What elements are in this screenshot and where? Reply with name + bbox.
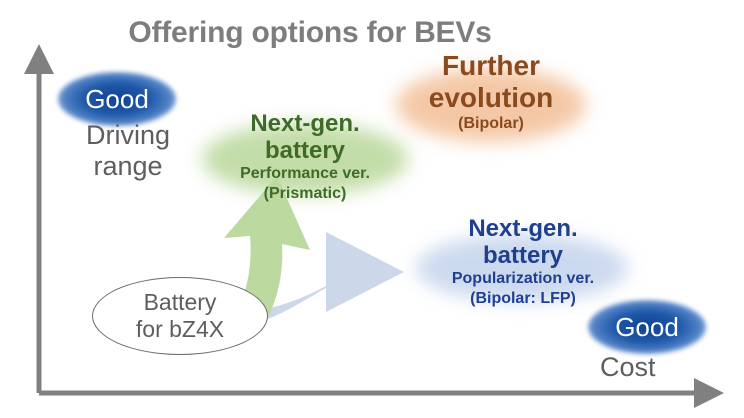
node-battery-bz4x: Battery for bZ4X — [92, 277, 268, 355]
popularization-subtitle-2: (Bipolar: LFP) — [412, 289, 634, 309]
popularization-title-line1: Next-gen. — [412, 215, 634, 242]
good-badge-label: Good — [85, 86, 149, 112]
good-badge-driving-range: Good — [58, 72, 176, 126]
bz4x-label-line2: for bZ4X — [92, 316, 268, 343]
bz4x-label-line1: Battery — [92, 289, 268, 316]
popularization-subtitle-1: Popularization ver. — [412, 269, 634, 289]
bz4x-label: Battery for bZ4X — [92, 289, 268, 343]
further-evolution-title-line1: Further — [382, 50, 600, 82]
x-axis-label: Cost — [600, 352, 656, 383]
y-axis-label-line1: Driving — [58, 120, 198, 151]
further-evolution-subtitle: (Bipolar) — [382, 114, 600, 134]
performance-subtitle-2: (Prismatic) — [197, 184, 413, 204]
node-popularization-battery: Next-gen. battery Popularization ver. (B… — [412, 215, 634, 309]
performance-title-line1: Next-gen. — [197, 110, 413, 137]
y-axis-label-line2: range — [58, 151, 198, 182]
further-evolution-title-line2: evolution — [382, 82, 600, 114]
node-further-evolution: Further evolution (Bipolar) — [382, 50, 600, 134]
diagram-canvas: Offering options for BEVs Good Good Driv… — [0, 0, 744, 418]
popularization-title-line2: battery — [412, 242, 634, 269]
performance-subtitle-1: Performance ver. — [197, 164, 413, 184]
node-performance-battery: Next-gen. battery Performance ver. (Pris… — [197, 110, 413, 204]
performance-title-line2: battery — [197, 137, 413, 164]
good-badge-label: Good — [615, 314, 679, 340]
y-axis-label: Driving range — [58, 120, 198, 182]
